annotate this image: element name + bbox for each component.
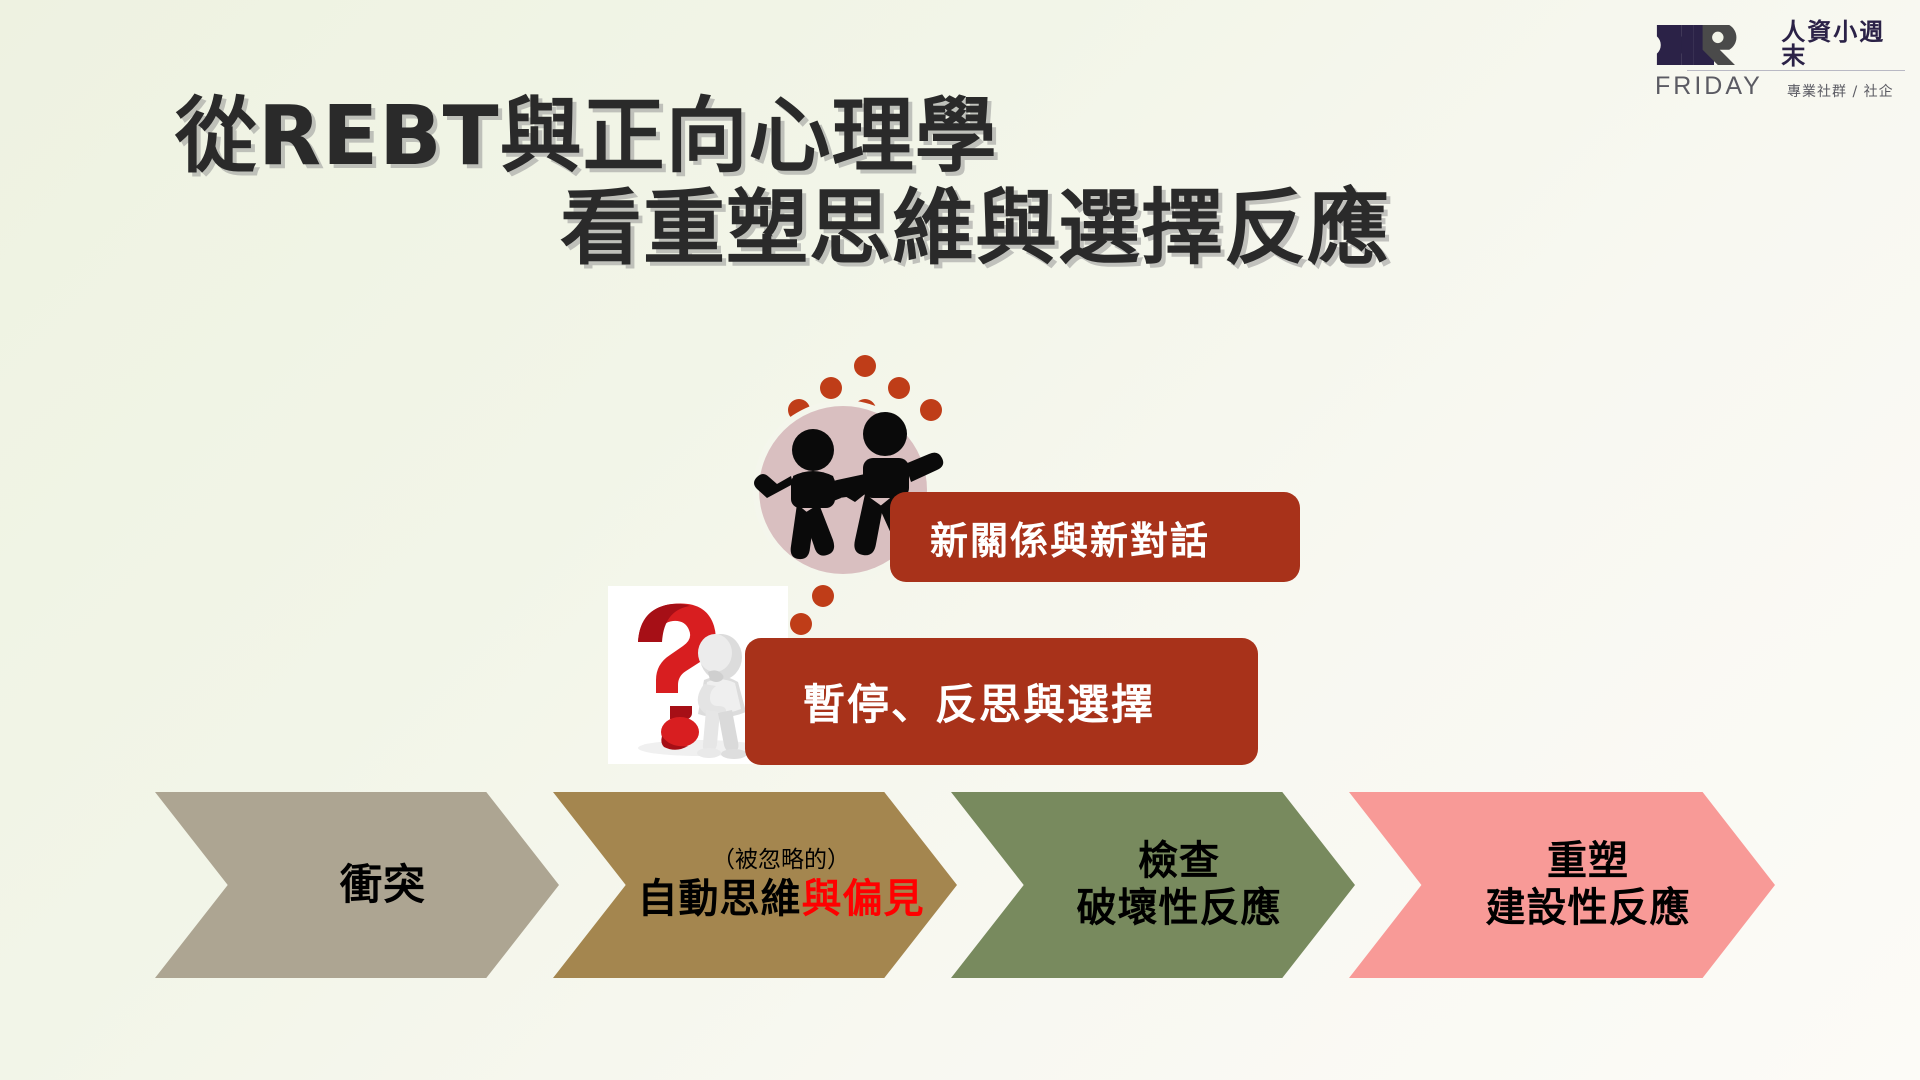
slide-canvas: 人資小週末 FRIDAY 專業社群 / 社企 從REBT與正向心理學 看重塑思維…	[0, 0, 1920, 1080]
chevron-2-line1: 自動思維	[638, 876, 802, 922]
chevron-2-highlight: 與偏見	[802, 876, 925, 922]
chevron-3-line1: 檢查	[1077, 838, 1282, 885]
chevron-4-line1: 重塑	[1486, 838, 1691, 885]
title-line-1: 從REBT與正向心理學	[175, 95, 1525, 179]
chevron-3-line2: 破壞性反應	[1077, 885, 1282, 932]
process-chevron-row: 衝突 （被忽略的） 自動思維與偏見 檢查 破壞性反應 重塑 建設性反應	[155, 792, 1775, 978]
logo-tagline: 專業社群 / 社企	[1787, 85, 1894, 99]
banner-new-relationship[interactable]: 新關係與新對話	[890, 492, 1300, 582]
banner-pause-reflect-choose[interactable]: 暫停、反思與選擇	[745, 638, 1258, 765]
chevron-step-conflict[interactable]: 衝突	[155, 792, 559, 978]
title-line-2: 看重塑思維與選擇反應	[175, 187, 1525, 271]
brand-logo: 人資小週末 FRIDAY 專業社群 / 社企	[1655, 20, 1905, 96]
chevron-4-line2: 建設性反應	[1486, 885, 1691, 932]
chevron-1-line1: 衝突	[340, 860, 426, 910]
page-title: 從REBT與正向心理學 看重塑思維與選擇反應	[175, 95, 1525, 270]
logo-brand-cn: 人資小週末	[1781, 20, 1905, 68]
chevron-step-automatic-thoughts[interactable]: （被忽略的） 自動思維與偏見	[553, 792, 957, 978]
logo-wordmark: FRIDAY	[1655, 74, 1775, 99]
chevron-step-check-destructive[interactable]: 檢查 破壞性反應	[951, 792, 1355, 978]
hr-monogram-icon	[1655, 22, 1769, 68]
banner-top-label: 新關係與新對話	[930, 510, 1210, 565]
chevron-step-reshape-constructive[interactable]: 重塑 建設性反應	[1349, 792, 1775, 978]
chevron-2-small: （被忽略的）	[638, 847, 925, 875]
banner-bottom-label: 暫停、反思與選擇	[803, 671, 1155, 732]
logo-divider	[1687, 70, 1905, 71]
